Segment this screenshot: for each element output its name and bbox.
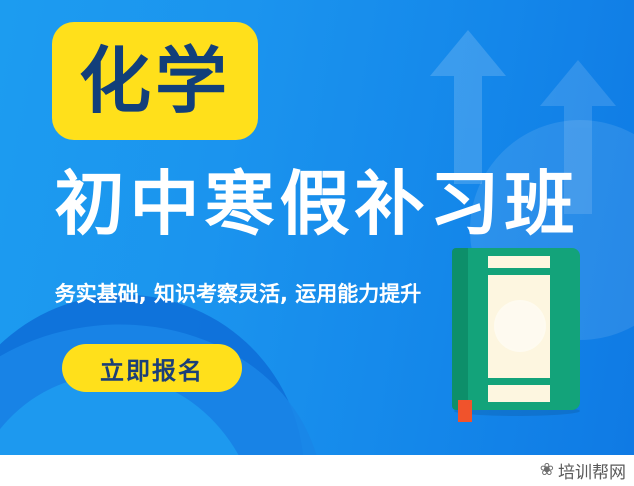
course-poster: 化学 初中寒假补习班 务实基础, 知识考察灵活, 运用能力提升 立即报名 xyxy=(0,0,634,455)
poster-subheadline: 务实基础, 知识考察灵活, 运用能力提升 xyxy=(28,278,448,308)
enroll-now-label: 立即报名 xyxy=(100,351,204,386)
up-arrow-icon xyxy=(430,30,506,180)
flower-icon: ❀ xyxy=(540,462,554,479)
subject-tag-label: 化学 xyxy=(79,45,231,117)
watermark: ❀ 培训帮网 xyxy=(540,455,626,486)
poster-headline: 初中寒假补习班 xyxy=(20,168,614,242)
book-icon xyxy=(452,248,580,418)
enroll-now-button[interactable]: 立即报名 xyxy=(62,344,242,392)
watermark-text: 培训帮网 xyxy=(558,458,626,483)
subject-tag: 化学 xyxy=(52,22,258,140)
banner-image: 化学 初中寒假补习班 务实基础, 知识考察灵活, 运用能力提升 立即报名 ❀ 培… xyxy=(0,0,634,486)
footer-bar: ❀ 培训帮网 xyxy=(0,455,634,486)
